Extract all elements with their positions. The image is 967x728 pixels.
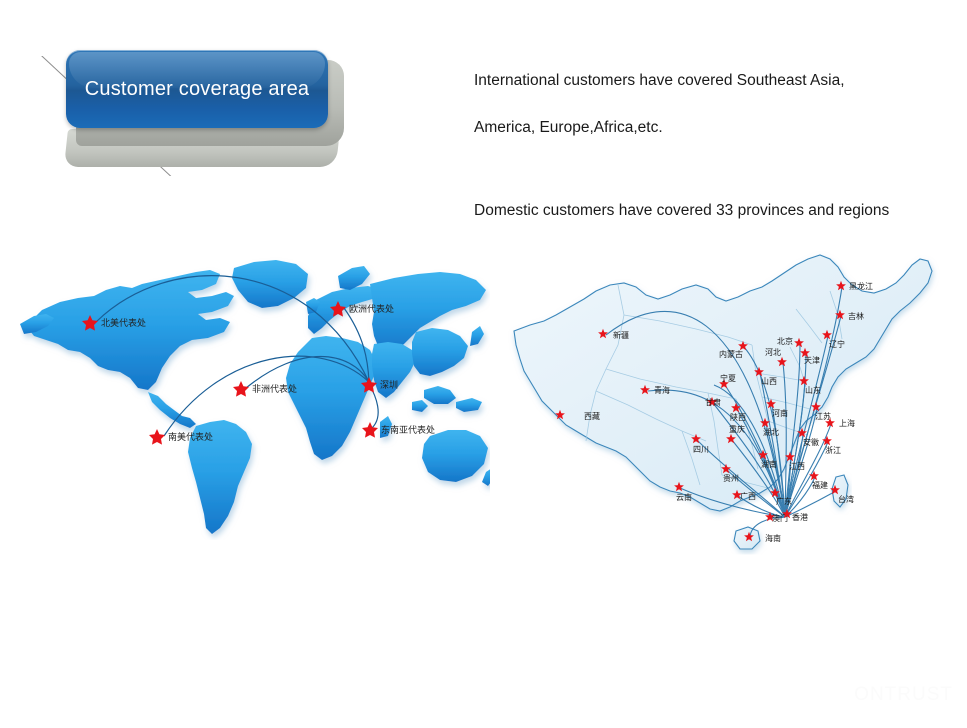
province-label: 湖北	[763, 428, 779, 437]
province-label: 湖南	[761, 459, 777, 469]
province-label: 河南	[772, 408, 788, 418]
province-label: 宁夏	[720, 373, 736, 383]
province-label: 台湾	[838, 494, 854, 504]
province-label: 海南	[765, 533, 781, 543]
province-marker-12[interactable]: 甘肃	[705, 397, 721, 407]
slide-canvas: Customer coverage area International cus…	[0, 0, 967, 728]
marker-label: 欧洲代表处	[349, 303, 394, 315]
province-label: 浙江	[825, 445, 841, 455]
marker-southeast-asia[interactable]: 东南亚代表处	[362, 422, 435, 438]
province-label: 江西	[789, 462, 805, 471]
marker-label: 东南亚代表处	[381, 424, 435, 436]
world-landmasses	[20, 260, 490, 534]
province-label: 陕西	[730, 412, 746, 422]
province-label: 重庆	[729, 424, 745, 434]
province-label: 云南	[676, 492, 692, 502]
china-map-container: 新疆黑龙江吉林辽宁内蒙古北京天津河北山西山东宁夏青海甘肃陕西河南江苏西藏上海湖北…	[500, 245, 960, 575]
paragraph-spacer	[474, 158, 954, 194]
province-label: 天津	[804, 355, 820, 365]
watermark: ONTRUST	[854, 684, 953, 706]
province-label: 贵州	[723, 473, 739, 483]
marker-label: 北美代表处	[101, 317, 146, 329]
province-label: 上海	[839, 418, 855, 428]
world-map-container: 北美代表处 欧洲代表处 非洲代表处 南美代表处 东南亚代表处	[20, 240, 490, 540]
marker-label: 南美代表处	[168, 431, 213, 443]
page-title: Customer coverage area	[85, 78, 310, 101]
province-label: 甘肃	[705, 397, 721, 407]
province-label: 新疆	[613, 330, 629, 340]
province-label: 河北	[765, 347, 781, 357]
province-label: 青海	[654, 385, 670, 395]
intro-line-2: America, Europe,Africa,etc.	[474, 111, 954, 144]
title-banner: Customer coverage area	[40, 34, 350, 146]
province-label: 香港	[792, 512, 808, 522]
province-label: 西藏	[584, 411, 600, 421]
province-label: 广西	[740, 491, 756, 501]
province-label: 北京	[777, 336, 793, 346]
province-label: 吉林	[848, 311, 864, 321]
province-label: 内蒙古	[719, 349, 743, 359]
province-label: 安徽	[803, 437, 819, 447]
province-label: 辽宁	[829, 339, 845, 349]
province-label: 黑龙江	[849, 281, 873, 291]
intro-line-3: Domestic customers have covered 33 provi…	[474, 194, 954, 227]
intro-line-1: International customers have covered Sou…	[474, 64, 954, 97]
marker-label: 深圳	[380, 380, 398, 391]
province-label: 四川	[693, 445, 709, 454]
province-label: 山东	[805, 385, 821, 395]
province-label: 江苏	[815, 411, 831, 421]
province-label: 福建	[812, 480, 828, 490]
marker-label: 非洲代表处	[252, 383, 297, 395]
province-label: 山西	[761, 376, 777, 386]
intro-text-block: International customers have covered Sou…	[474, 64, 954, 241]
title-button[interactable]: Customer coverage area	[66, 50, 328, 128]
province-label: 广东	[776, 496, 792, 506]
